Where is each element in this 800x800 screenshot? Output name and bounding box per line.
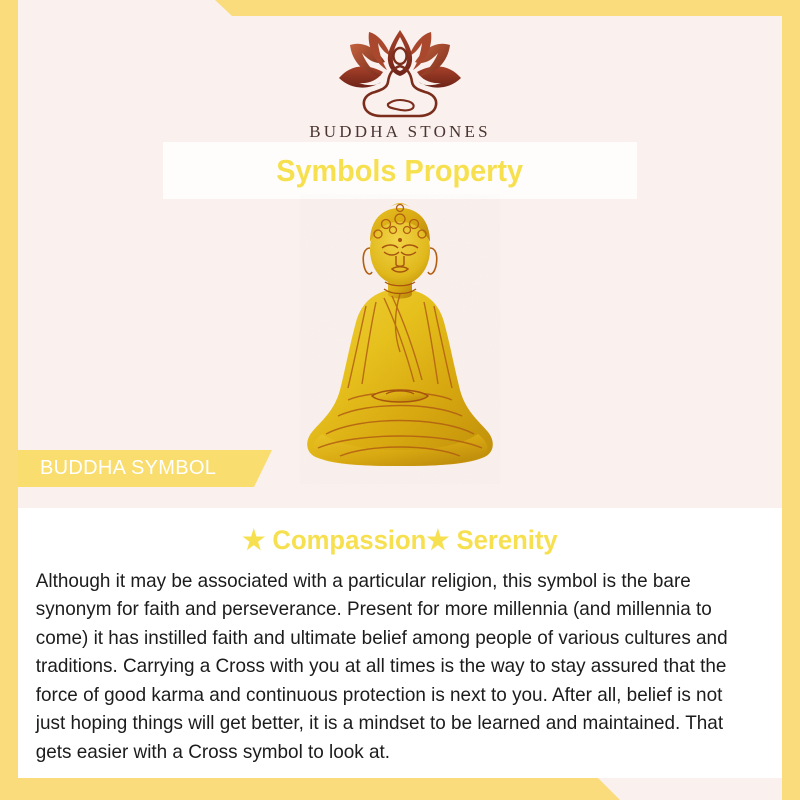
brand-name: BUDDHA STONES [309, 122, 491, 142]
frame-left-band [0, 0, 18, 800]
section-body-text: Although it may be associated with a par… [28, 567, 750, 766]
hero-image [18, 194, 782, 484]
brand-logo: BUDDHA STONES [18, 28, 782, 142]
lotus-meditation-icon [325, 28, 475, 120]
buddha-symbol-ribbon: BUDDHA SYMBOL [18, 450, 272, 487]
title-band: Symbols Property [163, 142, 637, 199]
content-section: ★ Compassion★ Serenity Although it may b… [18, 508, 782, 778]
golden-buddha-statue-icon [300, 194, 500, 484]
inner-panel: BUDDHA STONES Symbols Property [18, 16, 782, 778]
page-title: Symbols Property [277, 153, 524, 189]
frame-bottom-band [0, 778, 620, 800]
frame-top-band [215, 0, 800, 16]
frame-right-band [782, 0, 800, 800]
poster-canvas: BUDDHA STONES Symbols Property [0, 0, 800, 800]
ribbon-label: BUDDHA SYMBOL [18, 457, 216, 480]
section-subheading: ★ Compassion★ Serenity [47, 526, 754, 556]
